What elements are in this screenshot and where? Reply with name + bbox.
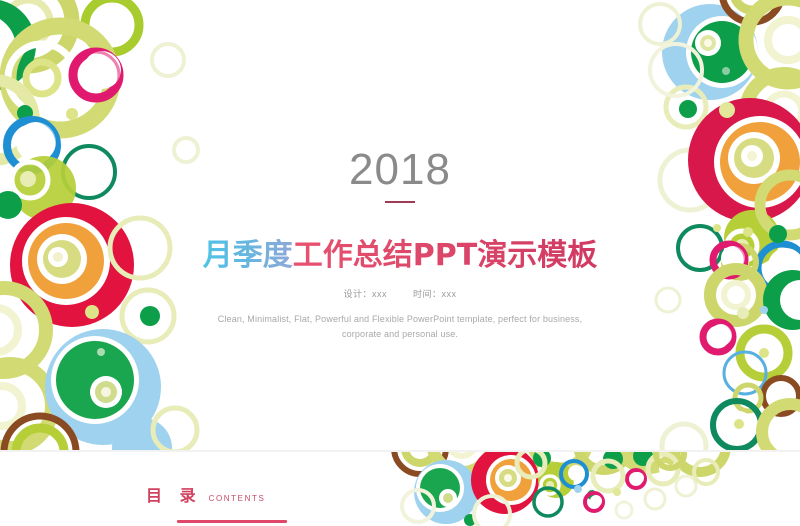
circle-decoration-top-band — [0, 452, 800, 526]
contents-accent-bar — [177, 520, 287, 523]
contents-heading: 目 录 CONTENTS — [146, 482, 265, 506]
contents-label-cn: 目 录 — [146, 482, 202, 506]
circle-decoration-left-right — [0, 0, 800, 450]
slide-cover: 2018 月季度工作总结PPT演示模板 设计：xxx 时间：xxx Clean,… — [0, 0, 800, 450]
contents-label-en: CONTENTS — [209, 494, 266, 503]
presentation-canvas: 2018 月季度工作总结PPT演示模板 设计：xxx 时间：xxx Clean,… — [0, 0, 800, 526]
slide-contents: 目 录 CONTENTS — [0, 452, 800, 526]
